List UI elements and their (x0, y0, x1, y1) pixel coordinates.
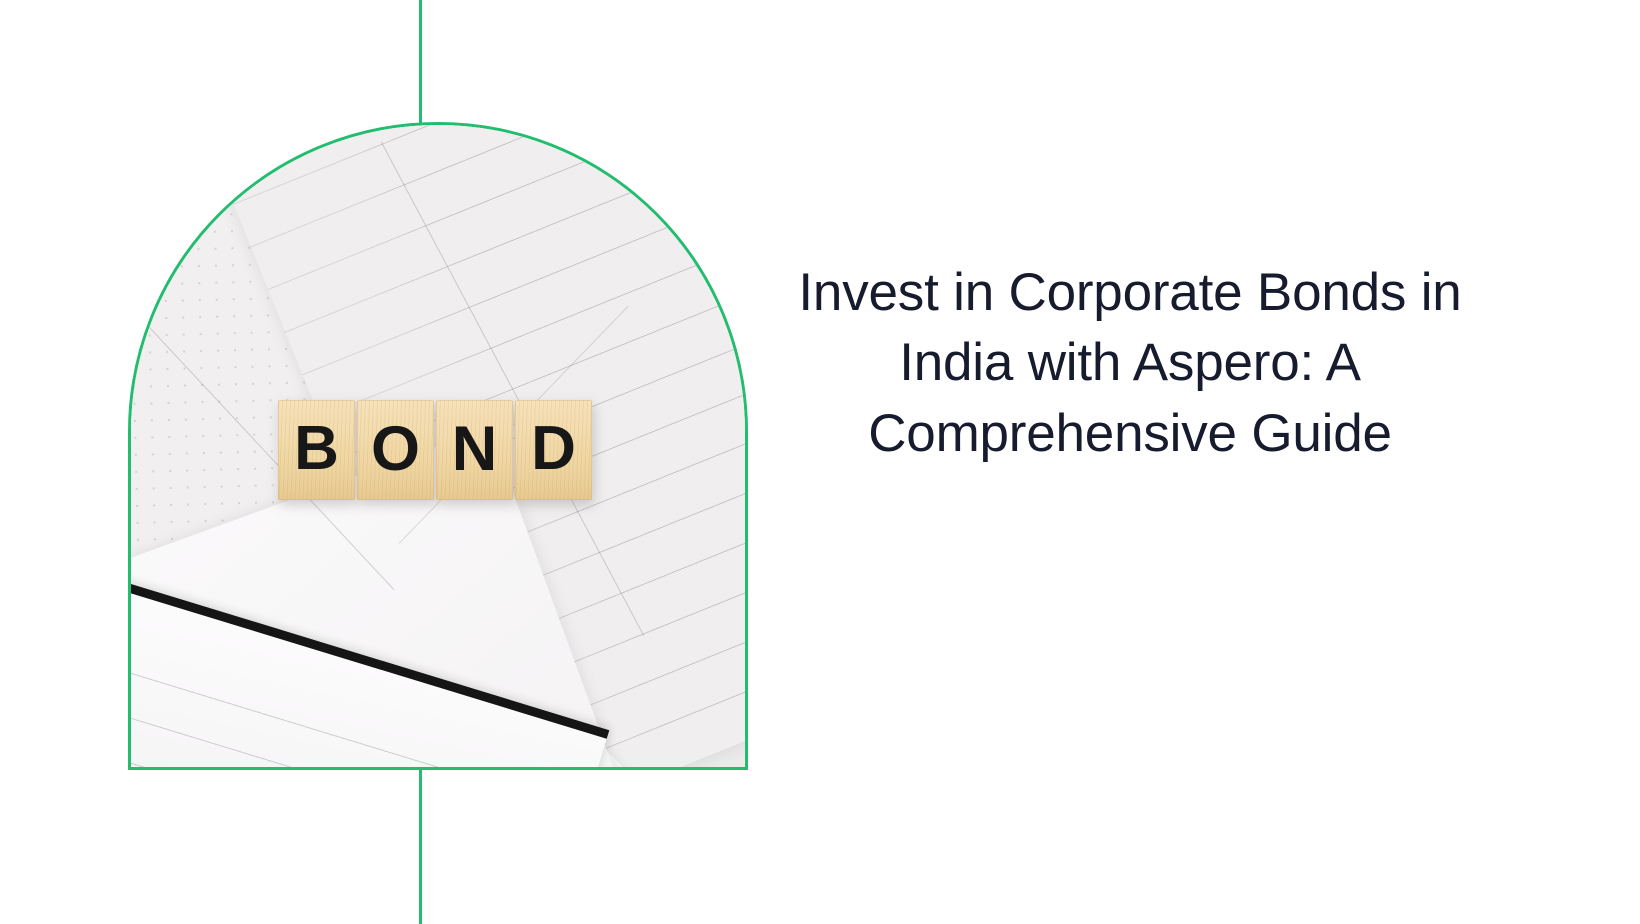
letter-block: N (436, 400, 513, 500)
bond-letter-blocks: B O N D (278, 400, 592, 500)
headline-container: Invest in Corporate Bonds in India with … (775, 258, 1485, 469)
letter-block: D (515, 400, 592, 500)
letter-block-glyph: O (371, 418, 420, 481)
arch-frame: B O N D (128, 122, 748, 770)
accent-rule-top (419, 0, 422, 124)
letter-block-glyph: B (294, 418, 339, 480)
letter-block: B (278, 400, 355, 500)
media-block: B O N D (128, 122, 748, 770)
letter-block-glyph: N (452, 418, 498, 481)
page-title: Invest in Corporate Bonds in India with … (775, 258, 1485, 469)
accent-rule-bottom (419, 768, 422, 924)
letter-block: O (357, 400, 434, 500)
letter-block-glyph: D (531, 418, 576, 480)
hero-card: B O N D Invest in Corporate Bonds in Ind… (0, 0, 1640, 924)
photo-illustration: B O N D (131, 125, 745, 767)
